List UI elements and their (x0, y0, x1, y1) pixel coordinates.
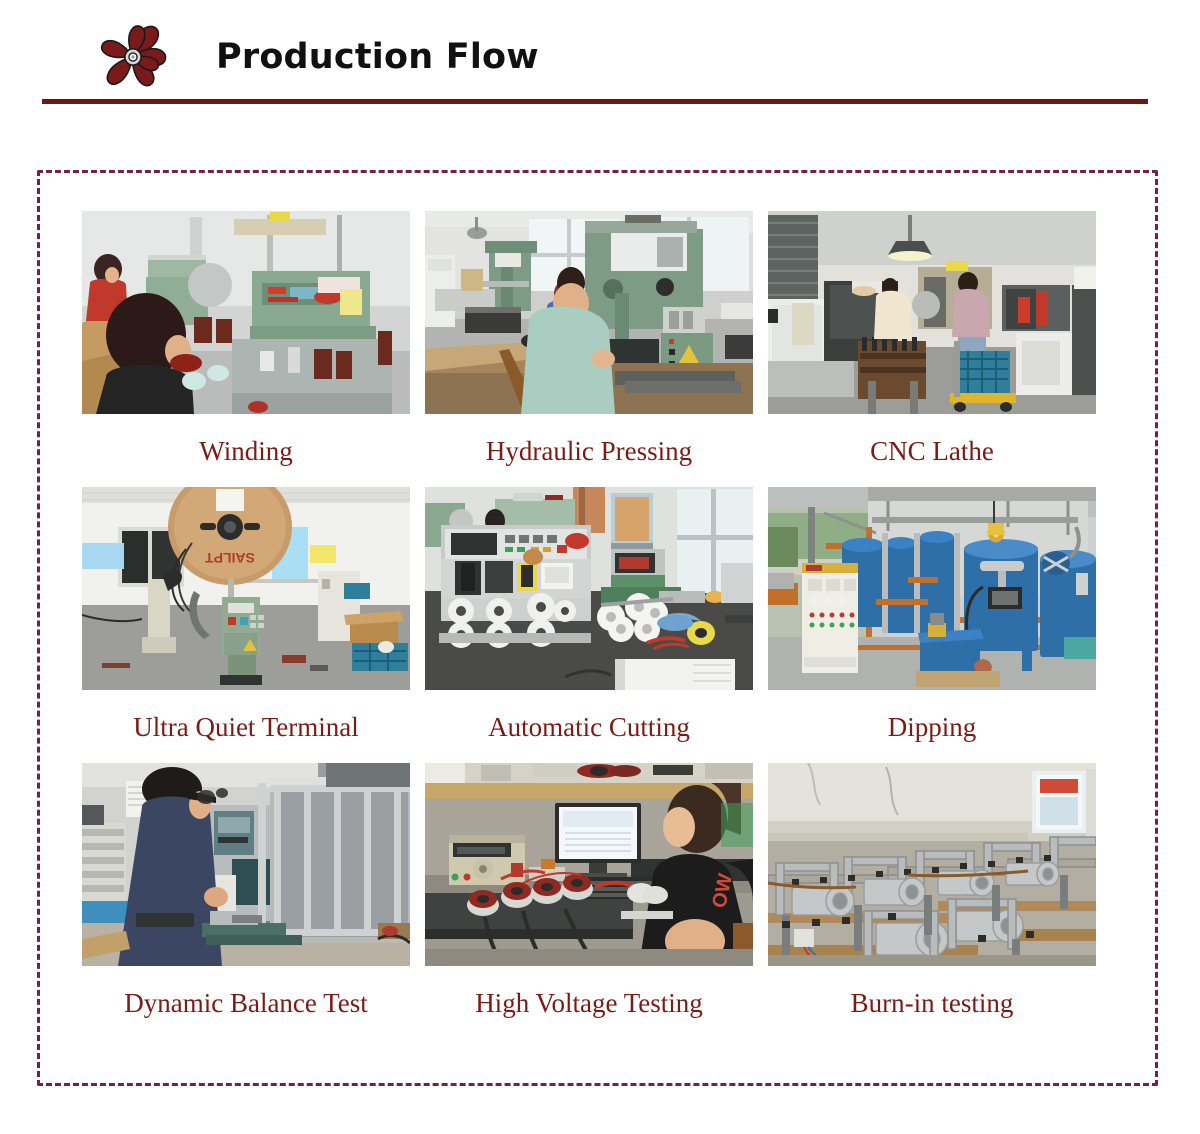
gallery-item[interactable]: Dipping (768, 487, 1096, 763)
fan-impeller-icon (96, 20, 170, 94)
page-header: Production Flow (40, 14, 1150, 100)
photo-automatic-cutting[interactable] (425, 487, 753, 690)
svg-text:SAILPT: SAILPT (205, 550, 255, 566)
page-title: Production Flow (216, 37, 539, 77)
photo-dipping[interactable] (768, 487, 1096, 690)
photo-high-voltage-testing[interactable]: OW (425, 763, 753, 966)
gallery-item-caption: Dynamic Balance Test (82, 966, 410, 1039)
production-flow-gallery: Winding (82, 211, 1098, 1039)
gallery-item[interactable]: Winding (82, 211, 410, 487)
photo-burn-in-testing[interactable] (768, 763, 1096, 966)
photo-dynamic-balance-test[interactable] (82, 763, 410, 966)
gallery-item-caption: Dipping (768, 690, 1096, 763)
gallery-item-caption: Winding (82, 414, 410, 487)
gallery-item[interactable]: Hydraulic Pressing (425, 211, 753, 487)
gallery-item-caption: Hydraulic Pressing (425, 414, 753, 487)
production-flow-page: Production Flow (0, 0, 1200, 1134)
gallery-item-caption: High Voltage Testing (425, 966, 753, 1039)
gallery-item-caption: Automatic Cutting (425, 690, 753, 763)
photo-ultra-quiet-terminal[interactable]: SAILPT (82, 487, 410, 690)
header-divider (42, 99, 1148, 104)
photo-cnc-lathe[interactable] (768, 211, 1096, 414)
gallery-item-caption: Ultra Quiet Terminal (82, 690, 410, 763)
gallery-row: Winding (82, 211, 1098, 487)
gallery-item[interactable]: Dynamic Balance Test (82, 763, 410, 1039)
gallery-item[interactable]: OW High Voltage Testing (425, 763, 753, 1039)
gallery-row: SAILPT (82, 487, 1098, 763)
gallery-item[interactable]: Automatic Cutting (425, 487, 753, 763)
photo-winding[interactable] (82, 211, 410, 414)
gallery-item[interactable]: CNC Lathe (768, 211, 1096, 487)
gallery-item-caption: CNC Lathe (768, 414, 1096, 487)
gallery-item[interactable]: Burn-in testing (768, 763, 1096, 1039)
gallery-item-caption: Burn-in testing (768, 966, 1096, 1039)
gallery-row: Dynamic Balance Test (82, 763, 1098, 1039)
gallery-item[interactable]: SAILPT (82, 487, 410, 763)
photo-hydraulic-pressing[interactable] (425, 211, 753, 414)
